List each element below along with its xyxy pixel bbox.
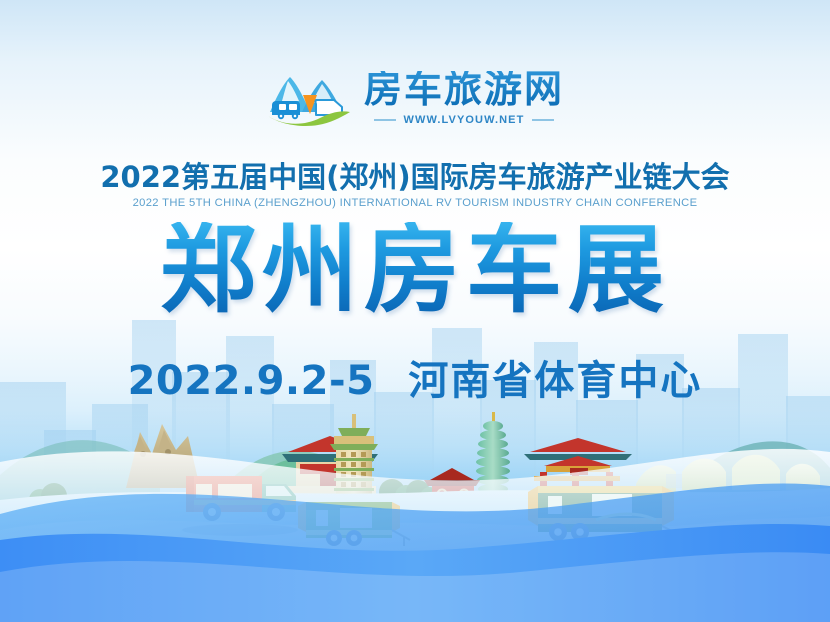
url-dash-right: [532, 119, 554, 121]
brand-logo[interactable]: 房车旅游网 WWW.LVYOUW.NET: [0, 68, 830, 128]
wave-decoration: [0, 422, 830, 622]
conference-title-en: 2022 THE 5TH CHINA (ZHENGZHOU) INTERNATI…: [0, 197, 830, 209]
poster-canvas: 房车旅游网 WWW.LVYOUW.NET 2022第五届中国(郑州)国际房车旅游…: [0, 0, 830, 622]
rv-mountain-logo-icon: [266, 68, 354, 128]
page-title: 郑州房车展: [0, 222, 830, 318]
brand-wordmark: 房车旅游网 WWW.LVYOUW.NET: [364, 71, 564, 126]
brand-url-row: WWW.LVYOUW.NET: [374, 114, 555, 126]
brand-url: WWW.LVYOUW.NET: [404, 114, 525, 126]
conference-title-cn: 2022第五届中国(郑州)国际房车旅游产业链大会: [0, 160, 830, 195]
url-dash-left: [374, 119, 396, 121]
brand-name-cn: 房车旅游网: [364, 71, 564, 109]
